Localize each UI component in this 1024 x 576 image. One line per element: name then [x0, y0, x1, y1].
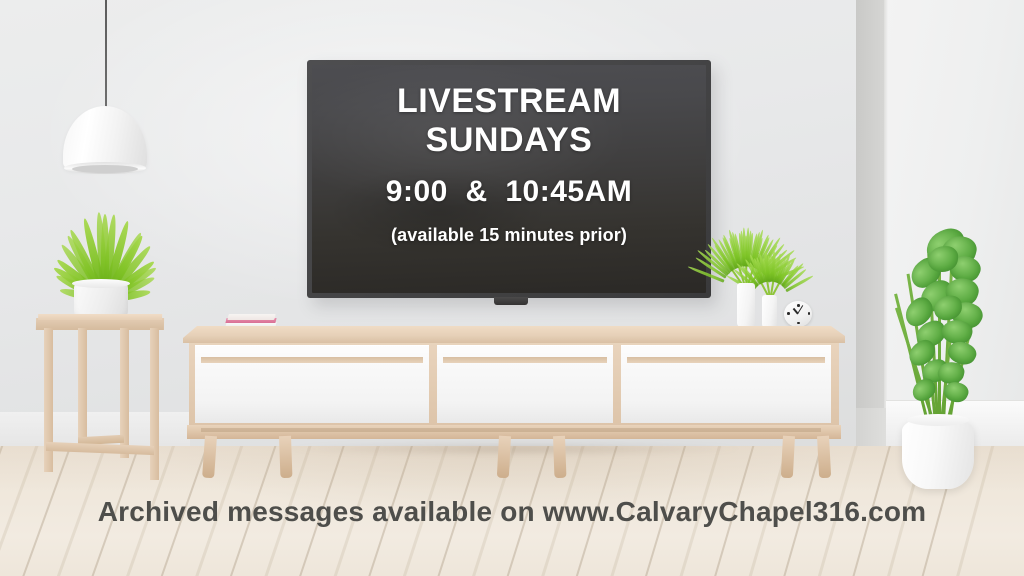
right-wall-edge [884, 0, 888, 452]
console-leg [817, 436, 831, 479]
right-plant-foliage [900, 230, 976, 422]
tv-service-times: 9:00 & 10:45AM [386, 175, 632, 209]
tv-slide-content: LIVESTREAM SUNDAYS 9:00 & 10:45AM (avail… [312, 65, 706, 293]
console-leg [781, 436, 795, 479]
pendant-lamp-cord [105, 0, 107, 108]
wall-corner-recess [856, 0, 886, 448]
media-console[interactable] [183, 326, 845, 446]
wall-mounted-tv[interactable]: LIVESTREAM SUNDAYS 9:00 & 10:45AM (avail… [307, 60, 711, 298]
short-white-vase [762, 295, 777, 328]
tv-screen: LIVESTREAM SUNDAYS 9:00 & 10:45AM (avail… [312, 65, 706, 293]
console-leg [279, 436, 292, 478]
tv-title: LIVESTREAM SUNDAYS [397, 82, 621, 159]
clock-mark [808, 312, 811, 315]
console-top-surface [183, 326, 845, 343]
clock-minute-hand [797, 305, 803, 314]
console-leg [497, 436, 511, 479]
console-gap [443, 357, 607, 363]
book-top-cover [227, 314, 275, 320]
clock-mark [797, 304, 800, 307]
pendant-lamp-inner [72, 165, 138, 173]
console-body [189, 341, 839, 427]
archived-messages-caption: Archived messages available on www.Calva… [0, 496, 1024, 528]
right-plant-pot [902, 417, 974, 489]
room-scene: LIVESTREAM SUNDAYS 9:00 & 10:45AM (avail… [0, 0, 1024, 576]
tv-title-line-2: SUNDAYS [397, 121, 621, 159]
tv-title-line-1: LIVESTREAM [397, 82, 621, 120]
clock-mark [787, 312, 790, 315]
tall-white-vase [737, 283, 755, 327]
clock-mark [797, 322, 800, 325]
console-leg [553, 436, 566, 478]
tv-availability-note: (available 15 minutes prior) [391, 225, 627, 246]
tv-wall-mount [494, 297, 528, 305]
console-gap [627, 357, 825, 363]
side-table-top [36, 318, 164, 330]
side-table-leg [150, 328, 159, 480]
side-table-leg [78, 328, 87, 448]
desk-clock [784, 301, 812, 327]
console-gap [201, 357, 423, 363]
